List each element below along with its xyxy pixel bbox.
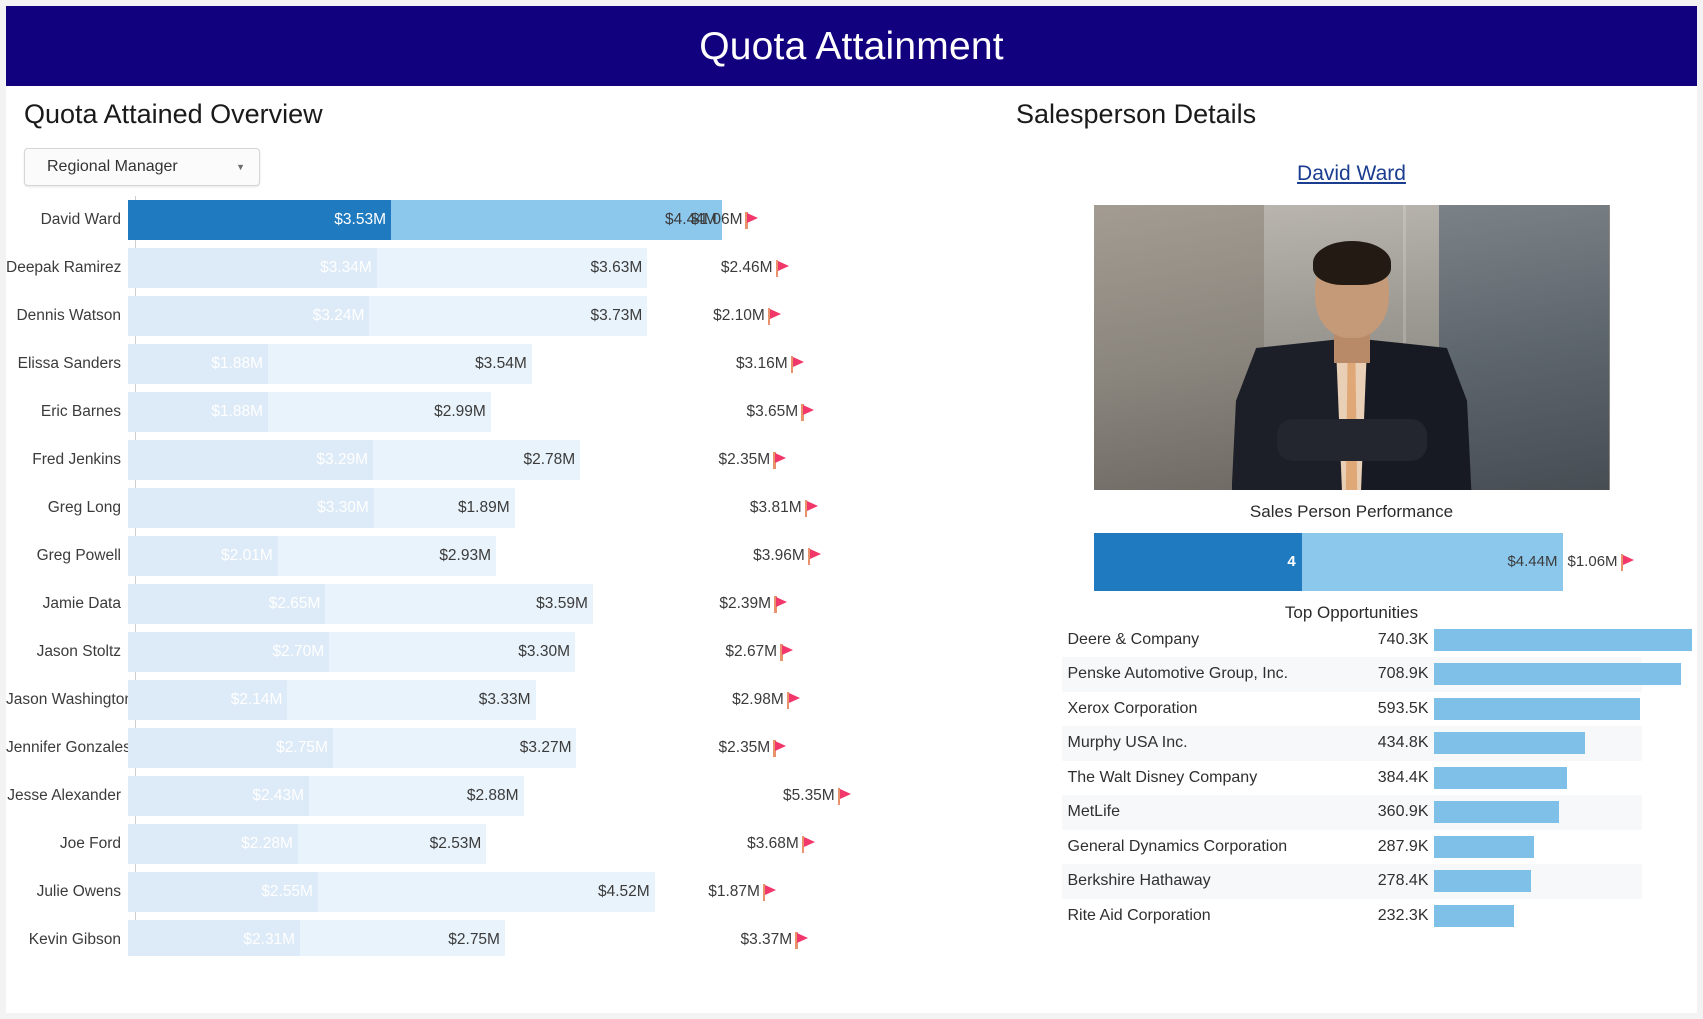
quota-row[interactable]: Greg Long$3.30M$1.89M$3.81M xyxy=(6,484,1006,532)
quota-row[interactable]: Greg Powell$2.01M$2.93M$3.96M xyxy=(6,532,1006,580)
quota-attained-segment[interactable]: $1.88M xyxy=(128,344,268,384)
quota-gap-value: $2.39M xyxy=(719,595,771,613)
quota-gap-label: $3.37M xyxy=(740,920,809,956)
opportunity-name: General Dynamics Corporation xyxy=(1062,838,1354,856)
opportunity-row[interactable]: General Dynamics Corporation287.9K xyxy=(1062,830,1642,865)
target-flag-icon xyxy=(768,308,782,325)
quota-remaining-segment[interactable]: $2.99M xyxy=(268,392,491,432)
opportunity-row[interactable]: Berkshire Hathaway278.4K xyxy=(1062,864,1642,899)
opportunity-bar-cell xyxy=(1434,692,1642,727)
quota-row[interactable]: Joe Ford$2.28M$2.53M$3.68M xyxy=(6,820,1006,868)
quota-gap-label: $3.68M xyxy=(747,824,816,864)
quota-gap-label: $2.35M xyxy=(719,440,788,480)
quota-row-label: Jamie Data xyxy=(6,595,128,613)
opportunity-value: 593.5K xyxy=(1354,700,1434,718)
quota-row-bars: $3.53M$4.44M$1.06M xyxy=(128,200,1006,240)
opportunity-row[interactable]: Murphy USA Inc.434.8K xyxy=(1062,726,1642,761)
quota-overview-panel: Quota Attained Overview Regional Manager… xyxy=(6,86,1006,1013)
quota-attained-segment[interactable]: $2.65M xyxy=(128,584,325,624)
quota-gap-value: $2.35M xyxy=(719,451,771,469)
role-slicer-dropdown[interactable]: Regional Manager ▼ xyxy=(24,148,260,186)
photo-composition xyxy=(1094,205,1610,490)
quota-row-label: Fred Jenkins xyxy=(6,451,128,469)
opportunity-bar-cell xyxy=(1434,830,1642,865)
quota-row[interactable]: Jennifer Gonzales$2.75M$3.27M$2.35M xyxy=(6,724,1006,772)
quota-row-bars: $2.55M$4.52M$1.87M xyxy=(128,872,1006,912)
quota-remaining-segment[interactable]: $3.30M xyxy=(329,632,575,672)
page-title: Quota Attainment xyxy=(699,27,1004,66)
quota-row[interactable]: Eric Barnes$1.88M$2.99M$3.65M xyxy=(6,388,1006,436)
target-flag-icon xyxy=(787,692,801,709)
quota-row[interactable]: Elissa Sanders$1.88M$3.54M$3.16M xyxy=(6,340,1006,388)
quota-attained-segment[interactable]: $2.28M xyxy=(128,824,298,864)
quota-gap-value: $3.81M xyxy=(750,499,802,517)
quota-remaining-segment[interactable]: $2.93M xyxy=(278,536,496,576)
opportunity-value: 287.9K xyxy=(1354,838,1434,856)
quota-gap-value: $2.35M xyxy=(719,739,771,757)
quota-row[interactable]: Jason Stoltz$2.70M$3.30M$2.67M xyxy=(6,628,1006,676)
opportunity-bar-cell xyxy=(1434,761,1642,796)
target-flag-icon xyxy=(774,596,788,613)
quota-remaining-segment[interactable]: $2.75M xyxy=(300,920,505,956)
performance-attained-segment[interactable]: 4 xyxy=(1094,533,1302,591)
quota-attained-segment[interactable]: $3.53M xyxy=(128,200,391,240)
quota-attained-segment[interactable]: $3.30M xyxy=(128,488,374,528)
role-slicer-value: Regional Manager xyxy=(47,158,178,176)
opportunity-bar xyxy=(1434,698,1641,720)
target-flag-icon xyxy=(776,260,790,277)
quota-row-bars: $2.75M$3.27M$2.35M xyxy=(128,728,1006,768)
quota-gap-value: $3.96M xyxy=(753,547,805,565)
target-flag-icon xyxy=(791,356,805,373)
quota-remaining-segment[interactable]: $3.59M xyxy=(325,584,592,624)
performance-gap-value: $1.06M xyxy=(1568,553,1618,570)
opportunity-bar xyxy=(1434,905,1515,927)
quota-row[interactable]: David Ward$3.53M$4.44M$1.06M xyxy=(6,196,1006,244)
quota-row[interactable]: Jason Washington$2.14M$3.33M$2.98M xyxy=(6,676,1006,724)
quota-gap-label: $3.16M xyxy=(736,344,805,384)
opportunity-bar xyxy=(1434,836,1534,858)
opportunity-row[interactable]: Xerox Corporation593.5K xyxy=(1062,692,1642,727)
quota-attained-segment[interactable]: $2.55M xyxy=(128,872,318,912)
opportunity-value: 278.4K xyxy=(1354,872,1434,890)
opportunity-value: 360.9K xyxy=(1354,803,1434,821)
quota-remaining-segment[interactable]: $1.89M xyxy=(374,488,515,528)
quota-attained-segment[interactable]: $2.01M xyxy=(128,536,278,576)
opportunity-value: 740.3K xyxy=(1354,631,1434,649)
opportunity-row[interactable]: Rite Aid Corporation232.3K xyxy=(1062,899,1642,934)
opportunity-name: Berkshire Hathaway xyxy=(1062,872,1354,890)
quota-gap-label: $3.96M xyxy=(753,536,822,576)
quota-row-bars: $2.65M$3.59M$2.39M xyxy=(128,584,1006,624)
top-opportunities-title: Top Opportunities xyxy=(1006,603,1697,623)
quota-row-label: Elissa Sanders xyxy=(6,355,128,373)
top-opportunities-table: Deere & Company740.3KPenske Automotive G… xyxy=(1062,623,1642,934)
quota-attained-segment[interactable]: $2.31M xyxy=(128,920,300,956)
target-flag-icon xyxy=(773,452,787,469)
report-body: Quota Attained Overview Regional Manager… xyxy=(6,86,1697,1013)
quota-row-label: Jason Washington xyxy=(6,691,128,709)
opportunity-name: The Walt Disney Company xyxy=(1062,769,1354,787)
quota-row-bars: $2.43M$2.88M$5.35M xyxy=(128,776,1006,816)
quota-gap-value: $3.16M xyxy=(736,355,788,373)
opportunity-bar-cell xyxy=(1434,726,1642,761)
quota-remaining-segment[interactable]: $2.78M xyxy=(373,440,580,480)
opportunity-row[interactable]: Deere & Company740.3K xyxy=(1062,623,1642,658)
opportunity-bar xyxy=(1434,663,1681,685)
quota-row-bars: $2.70M$3.30M$2.67M xyxy=(128,632,1006,672)
quota-attained-segment[interactable]: $2.75M xyxy=(128,728,333,768)
quota-overview-title: Quota Attained Overview xyxy=(6,86,1006,130)
quota-gap-label: $1.87M xyxy=(708,872,777,912)
quota-row-bars: $2.28M$2.53M$3.68M xyxy=(128,824,1006,864)
opportunity-value: 434.8K xyxy=(1354,734,1434,752)
quota-row-bars: $1.88M$2.99M$3.65M xyxy=(128,392,1006,432)
quota-row-bars: $2.14M$3.33M$2.98M xyxy=(128,680,1006,720)
quota-row[interactable]: Jesse Alexander$2.43M$2.88M$5.35M xyxy=(6,772,1006,820)
target-flag-icon xyxy=(795,932,809,949)
quota-row-label: Dennis Watson xyxy=(6,307,128,325)
report-header: Quota Attainment xyxy=(6,6,1697,86)
opportunity-bar xyxy=(1434,870,1531,892)
quota-gap-label: $2.10M xyxy=(713,296,782,336)
quota-row[interactable]: Kevin Gibson$2.31M$2.75M$3.37M xyxy=(6,916,1006,956)
quota-attained-segment[interactable]: $3.29M xyxy=(128,440,373,480)
photo-hair xyxy=(1313,241,1391,285)
target-flag-icon xyxy=(745,212,759,229)
opportunity-bar-cell xyxy=(1434,657,1642,692)
performance-chart-title: Sales Person Performance xyxy=(1006,502,1697,522)
quota-remaining-segment[interactable]: $3.73M xyxy=(369,296,647,336)
quota-row[interactable]: Jamie Data$2.65M$3.59M$2.39M xyxy=(6,580,1006,628)
quota-row-bars: $3.29M$2.78M$2.35M xyxy=(128,440,1006,480)
quota-gap-value: $2.98M xyxy=(732,691,784,709)
quota-gap-label: $5.35M xyxy=(783,776,852,816)
opportunity-value: 384.4K xyxy=(1354,769,1434,787)
quota-row-bars: $3.30M$1.89M$3.81M xyxy=(128,488,1006,528)
quota-row[interactable]: Deepak Ramirez$3.34M$3.63M$2.46M xyxy=(6,244,1006,292)
quota-remaining-segment[interactable]: $3.27M xyxy=(333,728,577,768)
target-flag-icon xyxy=(838,788,852,805)
target-flag-icon xyxy=(1621,554,1635,571)
quota-gap-value: $2.46M xyxy=(721,259,773,277)
opportunity-name: MetLife xyxy=(1062,803,1354,821)
target-flag-icon xyxy=(808,548,822,565)
quota-remaining-segment[interactable]: $3.63M xyxy=(377,248,647,288)
quota-remaining-segment[interactable]: $3.54M xyxy=(268,344,532,384)
quota-remaining-segment[interactable]: $4.52M xyxy=(318,872,655,912)
quota-row[interactable]: Fred Jenkins$3.29M$2.78M$2.35M xyxy=(6,436,1006,484)
opportunity-row[interactable]: The Walt Disney Company384.4K xyxy=(1062,761,1642,796)
quota-gap-value: $5.35M xyxy=(783,787,835,805)
opportunity-name: Penske Automotive Group, Inc. xyxy=(1062,665,1354,683)
quota-row-label: Greg Powell xyxy=(6,547,128,565)
quota-attained-segment[interactable]: $3.24M xyxy=(128,296,369,336)
target-flag-icon xyxy=(763,884,777,901)
target-flag-icon xyxy=(801,404,815,421)
opportunity-row[interactable]: MetLife360.9K xyxy=(1062,795,1642,830)
opportunity-row[interactable]: Penske Automotive Group, Inc.708.9K xyxy=(1062,657,1642,692)
chevron-down-icon: ▼ xyxy=(236,163,245,172)
quota-row[interactable]: Dennis Watson$3.24M$3.73M$2.10M xyxy=(6,292,1006,340)
photo-arms xyxy=(1277,419,1427,461)
quota-remaining-segment[interactable]: $2.88M xyxy=(309,776,524,816)
performance-gap-label: $1.06M xyxy=(1568,533,1635,591)
quota-gap-label: $2.98M xyxy=(732,680,801,720)
quota-row-bars: $2.31M$2.75M$3.37M xyxy=(128,920,1006,956)
quota-row-label: David Ward xyxy=(6,211,128,229)
opportunity-bar xyxy=(1434,801,1560,823)
opportunity-value: 708.9K xyxy=(1354,665,1434,683)
quota-gap-label: $2.46M xyxy=(721,248,790,288)
opportunity-bar-cell xyxy=(1434,795,1642,830)
quota-gap-value: $3.68M xyxy=(747,835,799,853)
salesperson-details-panel: Salesperson Details David Ward xyxy=(1006,86,1697,1013)
salesperson-photo xyxy=(1094,205,1610,490)
salesperson-details-title: Salesperson Details xyxy=(1006,86,1697,130)
report-canvas: Quota Attainment Quota Attained Overview… xyxy=(6,6,1697,1013)
quota-row-bars: $3.24M$3.73M$2.10M xyxy=(128,296,1006,336)
target-flag-icon xyxy=(780,644,794,661)
opportunity-bar-cell xyxy=(1434,899,1642,934)
opportunity-bar xyxy=(1434,732,1586,754)
quota-row-bars: $2.01M$2.93M$3.96M xyxy=(128,536,1006,576)
quota-gap-value: $2.67M xyxy=(725,643,777,661)
quota-gap-label: $2.35M xyxy=(719,728,788,768)
opportunity-value: 232.3K xyxy=(1354,907,1434,925)
target-flag-icon xyxy=(802,836,816,853)
quota-attained-segment[interactable]: $2.14M xyxy=(128,680,287,720)
quota-gap-label: $3.81M xyxy=(750,488,819,528)
opportunity-bar-cell xyxy=(1434,623,1642,658)
quota-rows-container: David Ward$3.53M$4.44M$1.06MDeepak Ramir… xyxy=(6,196,1006,956)
quota-row-label: Eric Barnes xyxy=(6,403,128,421)
quota-gap-value: $3.65M xyxy=(746,403,798,421)
quota-attained-segment[interactable]: $2.70M xyxy=(128,632,329,672)
salesperson-name-link[interactable]: David Ward xyxy=(1006,162,1697,186)
quota-gap-label: $2.67M xyxy=(725,632,794,672)
target-flag-icon xyxy=(773,740,787,757)
quota-remaining-segment[interactable]: $4.44M xyxy=(391,200,722,240)
quota-row-bars: $1.88M$3.54M$3.16M xyxy=(128,344,1006,384)
quota-row-label: Jason Stoltz xyxy=(6,643,128,661)
quota-row-label: Jennifer Gonzales xyxy=(6,739,128,757)
opportunity-name: Murphy USA Inc. xyxy=(1062,734,1354,752)
opportunity-bar xyxy=(1434,629,1692,651)
quota-remaining-segment[interactable]: $2.53M xyxy=(298,824,486,864)
quota-row-label: Deepak Ramirez xyxy=(6,259,128,277)
performance-bar-chart: 4$4.44M$1.06M xyxy=(1094,533,1610,591)
quota-attained-segment[interactable]: $1.88M xyxy=(128,392,268,432)
quota-remaining-segment[interactable]: $3.33M xyxy=(287,680,535,720)
quota-gap-value: $1.06M xyxy=(691,211,743,229)
quota-gap-label: $3.65M xyxy=(746,392,815,432)
opportunity-name: Rite Aid Corporation xyxy=(1062,907,1354,925)
opportunity-name: Xerox Corporation xyxy=(1062,700,1354,718)
quota-gap-label: $2.39M xyxy=(719,584,788,624)
opportunity-bar-cell xyxy=(1434,864,1642,899)
slicer-container: Regional Manager ▼ xyxy=(6,130,1006,186)
quota-row-label: Jesse Alexander xyxy=(6,787,128,805)
quota-row-label: Greg Long xyxy=(6,499,128,517)
quota-row-label: Julie Owens xyxy=(6,883,128,901)
quota-gap-value: $2.10M xyxy=(713,307,765,325)
quota-gap-label: $1.06M xyxy=(691,200,760,240)
quota-row-label: Joe Ford xyxy=(6,835,128,853)
quota-gap-value: $1.87M xyxy=(708,883,760,901)
quota-attained-segment[interactable]: $2.43M xyxy=(128,776,309,816)
quota-row[interactable]: Julie Owens$2.55M$4.52M$1.87M xyxy=(6,868,1006,916)
quota-row-label: Kevin Gibson xyxy=(6,931,128,949)
quota-gap-value: $3.37M xyxy=(740,931,792,949)
opportunity-bar xyxy=(1434,767,1568,789)
opportunity-name: Deere & Company xyxy=(1062,631,1354,649)
dashboard-page: Quota Attainment Quota Attained Overview… xyxy=(0,0,1703,1019)
quota-attained-segment[interactable]: $3.34M xyxy=(128,248,377,288)
quota-attained-chart: David Ward$3.53M$4.44M$1.06MDeepak Ramir… xyxy=(6,196,1006,956)
target-flag-icon xyxy=(805,500,819,517)
performance-remaining-segment[interactable]: $4.44M xyxy=(1302,533,1564,591)
quota-row-bars: $3.34M$3.63M$2.46M xyxy=(128,248,1006,288)
